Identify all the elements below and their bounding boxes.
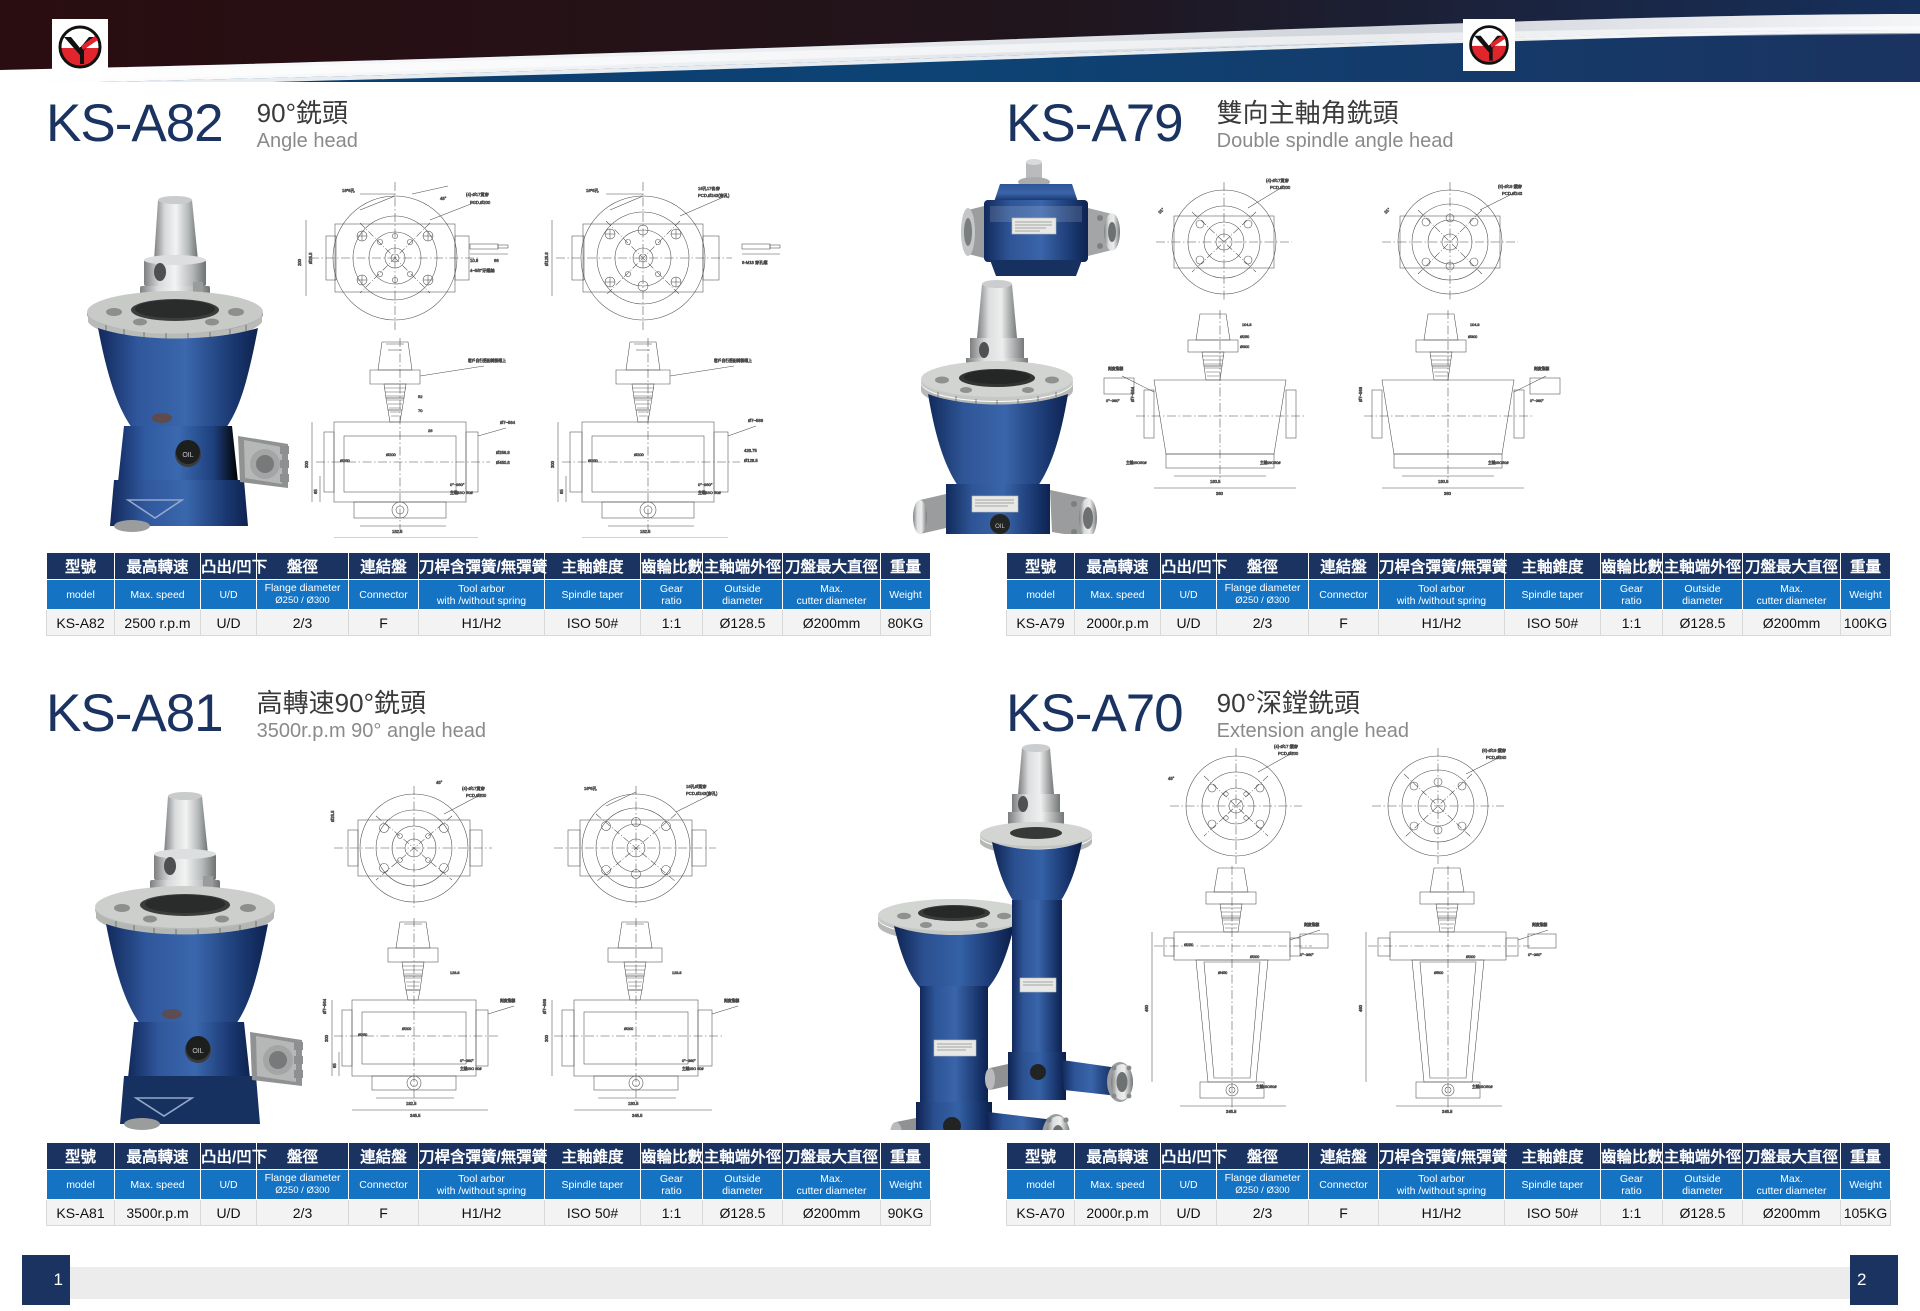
cell-cutter-dia: Ø200mm xyxy=(1743,1200,1841,1226)
svg-text:Ø250: Ø250 xyxy=(1240,335,1249,339)
svg-text:PCD.Ø240: PCD.Ø240 xyxy=(1486,755,1507,760)
svg-text:16孔Ø貫穿: 16孔Ø貫穿 xyxy=(686,783,706,790)
cad-drawing-art: (4)-Ø17貫穿 PCD.Ø200 31° xyxy=(1102,164,1902,544)
product-name-en: Double spindle angle head xyxy=(1217,129,1454,154)
svg-text:16*6孔: 16*6孔 xyxy=(584,785,598,792)
th-en-gear-ratio: Gearratio xyxy=(1601,580,1663,610)
table-row: KS-A81 3500r.p.m U/D 2/3 F H1/H2 ISO 50#… xyxy=(47,1200,931,1226)
header-banner-art xyxy=(0,0,1920,82)
svg-text:Ø200: Ø200 xyxy=(386,452,397,457)
svg-text:Ø7~564: Ø7~564 xyxy=(500,420,516,425)
svg-text:Ø250: Ø250 xyxy=(1184,943,1193,947)
th-en-connector: Connector xyxy=(349,580,419,610)
th-cn-model: 型號 xyxy=(47,1143,115,1170)
product-title-ks-a81: KS-A81 高轉速90°銑頭 3500r.p.m 90° angle head xyxy=(46,686,486,744)
svg-text:45°: 45° xyxy=(440,196,447,201)
th-cn-ud: 凸出/凹下 xyxy=(1161,553,1217,580)
svg-text:刻度指標: 刻度指標 xyxy=(1532,922,1547,927)
th-en-flange: Flange diameterØ250 / Ø300 xyxy=(257,1170,349,1200)
product-photo-ks-a81: OIL xyxy=(78,780,328,1130)
th-cn-tool-arbor: 刀桿含彈簧/無彈簧 xyxy=(1379,553,1505,580)
svg-text:345.5: 345.5 xyxy=(1442,1109,1453,1114)
table-row: KS-A70 2000r.p.m U/D 2/3 F H1/H2 ISO 50#… xyxy=(1007,1200,1891,1226)
cell-weight: 80KG xyxy=(881,610,931,636)
svg-text:刻度指標: 刻度指標 xyxy=(500,998,515,1003)
cell-weight: 90KG xyxy=(881,1200,931,1226)
th-en-model: model xyxy=(1007,1170,1075,1200)
th-cn-spindle-taper: 主軸錐度 xyxy=(545,1143,641,1170)
svg-text:客戶自行搭配轉接環上: 客戶自行搭配轉接環上 xyxy=(468,358,506,363)
spec-table-ks-a79: 型號 最高轉速 凸出/凹下 盤徑 連結盤 刀桿含彈簧/無彈簧 主軸錐度 齒輪比數… xyxy=(1006,552,1891,636)
th-en-outside-dia: Outsidediameter xyxy=(1663,1170,1743,1200)
svg-text:Ø450.8: Ø450.8 xyxy=(496,460,510,465)
table-row: KS-A79 2000r.p.m U/D 2/3 F H1/H2 ISO 50#… xyxy=(1007,610,1891,636)
th-en-max-speed: Max. speed xyxy=(115,580,201,610)
product-code: KS-A79 xyxy=(1006,96,1183,152)
cell-gear-ratio: 1:1 xyxy=(1601,610,1663,636)
th-cn-weight: 重量 xyxy=(1841,1143,1891,1170)
cell-weight: 105KG xyxy=(1841,1200,1891,1226)
cell-weight: 100KG xyxy=(1841,610,1891,636)
cell-flange: 2/3 xyxy=(257,1200,349,1226)
th-cn-connector: 連結盤 xyxy=(349,553,419,580)
company-logo-secondary xyxy=(1463,19,1515,71)
svg-text:主軸ISO50#: 主軸ISO50# xyxy=(1260,460,1281,465)
svg-text:PCD.Ø243(穿孔): PCD.Ø243(穿孔) xyxy=(686,790,718,797)
th-cn-cutter-dia: 刀盤最大直徑 xyxy=(1743,1143,1841,1170)
th-en-outside-dia: Outsidediameter xyxy=(1663,580,1743,610)
cell-connector: F xyxy=(1309,1200,1379,1226)
product-block-ks-a81: KS-A81 高轉速90°銑頭 3500r.p.m 90° angle head xyxy=(0,672,960,1255)
svg-text:(4)-Ø17 鑽穿: (4)-Ø17 鑽穿 xyxy=(1274,743,1298,750)
th-cn-tool-arbor: 刀桿含彈簧/無彈簧 xyxy=(1379,1143,1505,1170)
cell-outside-dia: Ø128.5 xyxy=(1663,610,1743,636)
cell-ud: U/D xyxy=(201,610,257,636)
cell-spindle-taper: ISO 50# xyxy=(1505,1200,1601,1226)
svg-text:OIL: OIL xyxy=(192,1048,203,1055)
th-cn-flange: 盤徑 xyxy=(257,553,349,580)
th-cn-outside-dia: 主軸端外徑 xyxy=(703,1143,783,1170)
svg-text:(6)-Ø19 鑽穿: (6)-Ø19 鑽穿 xyxy=(1498,183,1522,190)
cell-max-speed: 2000r.p.m xyxy=(1075,610,1161,636)
th-cn-flange: 盤徑 xyxy=(1217,1143,1309,1170)
page-number-right: 2 xyxy=(1850,1255,1898,1305)
th-en-max-speed: Max. speed xyxy=(1075,1170,1161,1200)
svg-text:PCD.Ø200: PCD.Ø200 xyxy=(470,200,491,205)
th-en-flange: Flange diameterØ250 / Ø300 xyxy=(1217,1170,1309,1200)
cell-ud: U/D xyxy=(1161,1200,1217,1226)
th-cn-gear-ratio: 齒輪比數 xyxy=(1601,553,1663,580)
svg-text:(6)-Ø19 鑽穿: (6)-Ø19 鑽穿 xyxy=(1482,747,1506,754)
th-en-gear-ratio: Gearratio xyxy=(641,580,703,610)
th-cn-connector: 連結盤 xyxy=(1309,1143,1379,1170)
th-cn-spindle-taper: 主軸錐度 xyxy=(545,553,641,580)
svg-text:345.5: 345.5 xyxy=(1226,1109,1237,1114)
th-cn-weight: 重量 xyxy=(1841,553,1891,580)
cell-cutter-dia: Ø200mm xyxy=(783,610,881,636)
th-cn-model: 型號 xyxy=(1007,1143,1075,1170)
cell-tool-arbor: H1/H2 xyxy=(1379,1200,1505,1226)
th-cn-connector: 連結盤 xyxy=(349,1143,419,1170)
page-header xyxy=(0,0,1920,82)
product-code: KS-A82 xyxy=(46,96,223,152)
svg-text:180.5: 180.5 xyxy=(1438,479,1449,484)
th-cn-cutter-dia: 刀盤最大直徑 xyxy=(1743,553,1841,580)
th-en-tool-arbor: Tool arborwith /without spring xyxy=(419,580,545,610)
th-en-connector: Connector xyxy=(1309,1170,1379,1200)
cell-ud: U/D xyxy=(1161,610,1217,636)
cell-tool-arbor: H1/H2 xyxy=(419,1200,545,1226)
svg-text:0°~360°: 0°~360° xyxy=(1106,399,1120,403)
th-cn-cutter-dia: 刀盤最大直徑 xyxy=(783,1143,881,1170)
th-cn-max-speed: 最高轉速 xyxy=(1075,553,1161,580)
th-en-cutter-dia: Max.cutter diameter xyxy=(783,1170,881,1200)
cell-flange: 2/3 xyxy=(1217,1200,1309,1226)
svg-text:主軸ISO 50#: 主軸ISO 50# xyxy=(460,1066,482,1071)
svg-text:主軸ISO50#: 主軸ISO50# xyxy=(1488,460,1509,465)
product-photo-ks-a82: OIL xyxy=(62,182,302,532)
th-en-flange: Flange diameterØ250 / Ø300 xyxy=(1217,580,1309,610)
svg-text:4~5/8"牙螺絲: 4~5/8"牙螺絲 xyxy=(470,267,495,274)
high-speed-angle-head-photo-art: OIL xyxy=(78,780,328,1130)
cell-max-speed: 2000r.p.m xyxy=(1075,1200,1161,1226)
product-name-cn: 雙向主軸角銑頭 xyxy=(1217,98,1454,129)
svg-text:Ø250: Ø250 xyxy=(588,458,599,463)
product-name-cn: 90°銑頭 xyxy=(257,98,358,129)
svg-text:460: 460 xyxy=(1358,1004,1363,1012)
product-code: KS-A81 xyxy=(46,686,223,742)
svg-text:OIL: OIL xyxy=(182,452,193,459)
th-en-model: model xyxy=(47,580,115,610)
svg-text:(4)-Ø17貫穿: (4)-Ø17貫穿 xyxy=(1266,177,1289,184)
svg-text:10.8: 10.8 xyxy=(470,258,479,263)
technical-drawing-ks-a79: (4)-Ø17貫穿 PCD.Ø200 31° xyxy=(1102,164,1902,544)
table-header-en-row: model Max. speed U/D Flange diameterØ250… xyxy=(1007,580,1891,610)
th-cn-spindle-taper: 主軸錐度 xyxy=(1505,553,1601,580)
svg-text:0°~360°: 0°~360° xyxy=(698,482,713,487)
th-cn-flange: 盤徑 xyxy=(1217,553,1309,580)
svg-text:300: 300 xyxy=(544,1034,549,1042)
product-block-ks-a70: KS-A70 90°深鏜銑頭 Extension angle head xyxy=(960,672,1920,1255)
svg-text:Ø300: Ø300 xyxy=(1468,335,1477,339)
th-en-gear-ratio: Gearratio xyxy=(1601,1170,1663,1200)
catalog-page: KS-A82 90°銑頭 Angle head xyxy=(0,82,1920,1255)
company-logo xyxy=(52,19,108,75)
cell-tool-arbor: H1/H2 xyxy=(419,610,545,636)
svg-text:180.5: 180.5 xyxy=(628,1101,639,1106)
svg-text:主軸ISO50#: 主軸ISO50# xyxy=(1126,460,1147,465)
table-header-en-row: model Max. speed U/D Flange diameterØ250… xyxy=(47,580,931,610)
cell-spindle-taper: ISO 50# xyxy=(545,1200,641,1226)
th-cn-connector: 連結盤 xyxy=(1309,553,1379,580)
svg-text:Ø25.5: Ø25.5 xyxy=(330,810,335,822)
svg-text:45°: 45° xyxy=(436,780,443,785)
svg-text:300: 300 xyxy=(550,460,555,468)
th-en-cutter-dia: Max.cutter diameter xyxy=(1743,1170,1841,1200)
svg-text:OIL: OIL xyxy=(995,524,1005,530)
svg-text:Ø200: Ø200 xyxy=(1250,955,1259,959)
th-cn-tool-arbor: 刀桿含彈簧/無彈簧 xyxy=(419,1143,545,1170)
company-logo-icon xyxy=(55,22,105,72)
table-header-cn-row: 型號 最高轉速 凸出/凹下 盤徑 連結盤 刀桿含彈簧/無彈簧 主軸錐度 齒輪比數… xyxy=(1007,553,1891,580)
svg-text:主軸ISO 50#: 主軸ISO 50# xyxy=(682,1066,704,1071)
svg-text:主軸ISO50#: 主軸ISO50# xyxy=(1256,1084,1277,1089)
cell-model: KS-A81 xyxy=(47,1200,115,1226)
product-title-ks-a79: KS-A79 雙向主軸角銑頭 Double spindle angle head xyxy=(1006,96,1454,154)
svg-text:刻度指標: 刻度指標 xyxy=(1108,366,1123,371)
svg-text:200: 200 xyxy=(297,258,302,266)
svg-text:Ø250: Ø250 xyxy=(358,1033,367,1037)
table-header-cn-row: 型號 最高轉速 凸出/凹下 盤徑 連結盤 刀桿含彈簧/無彈簧 主軸錐度 齒輪比數… xyxy=(1007,1143,1891,1170)
th-cn-ud: 凸出/凹下 xyxy=(201,1143,257,1170)
svg-text:182.5: 182.5 xyxy=(640,529,651,534)
cell-model: KS-A70 xyxy=(1007,1200,1075,1226)
th-cn-outside-dia: 主軸端外徑 xyxy=(703,553,783,580)
table-header-cn-row: 型號 最高轉速 凸出/凹下 盤徑 連結盤 刀桿含彈簧/無彈簧 主軸錐度 齒輪比數… xyxy=(47,1143,931,1170)
svg-text:6-M18 穿孔螺: 6-M18 穿孔螺 xyxy=(742,259,768,266)
th-en-connector: Connector xyxy=(349,1170,419,1200)
th-en-model: model xyxy=(47,1170,115,1200)
table-header-en-row: model Max. speed U/D Flange diameterØ250… xyxy=(1007,1170,1891,1200)
spec-table-ks-a70: 型號 最高轉速 凸出/凹下 盤徑 連結盤 刀桿含彈簧/無彈簧 主軸錐度 齒輪比數… xyxy=(1006,1142,1891,1226)
svg-text:Ø125.8: Ø125.8 xyxy=(544,252,549,266)
cell-cutter-dia: Ø200mm xyxy=(783,1200,881,1226)
svg-text:128.8: 128.8 xyxy=(672,971,682,975)
product-name-cn: 高轉速90°銑頭 xyxy=(257,688,486,719)
th-en-cutter-dia: Max.cutter diameter xyxy=(1743,580,1841,610)
svg-text:0°~360°: 0°~360° xyxy=(460,1059,474,1063)
svg-text:52: 52 xyxy=(418,394,423,399)
product-block-ks-a82: KS-A82 90°銑頭 Angle head xyxy=(0,82,960,672)
cell-connector: F xyxy=(349,1200,419,1226)
table-header-en-row: model Max. speed U/D Flange diameterØ250… xyxy=(47,1170,931,1200)
th-en-spindle-taper: Spindle taper xyxy=(545,580,641,610)
th-cn-ud: 凸出/凹下 xyxy=(1161,1143,1217,1170)
cell-flange: 2/3 xyxy=(1217,610,1309,636)
svg-text:Ø300: Ø300 xyxy=(1240,345,1249,349)
svg-text:345.5: 345.5 xyxy=(410,1113,421,1118)
svg-text:Ø200: Ø200 xyxy=(634,452,645,457)
th-en-tool-arbor: Tool arborwith /without spring xyxy=(1379,580,1505,610)
th-cn-tool-arbor: 刀桿含彈簧/無彈簧 xyxy=(419,553,545,580)
angle-head-photo-art: OIL xyxy=(62,182,302,532)
svg-text:345.5: 345.5 xyxy=(632,1113,643,1118)
th-cn-weight: 重量 xyxy=(881,553,931,580)
svg-text:0°~360°: 0°~360° xyxy=(1528,953,1542,957)
svg-text:104.8: 104.8 xyxy=(1470,323,1480,327)
th-en-weight: Weight xyxy=(881,580,931,610)
cell-model: KS-A82 xyxy=(47,610,115,636)
cell-connector: F xyxy=(349,610,419,636)
th-en-ud: U/D xyxy=(1161,1170,1217,1200)
svg-text:Ø25.5: Ø25.5 xyxy=(308,252,313,264)
svg-text:PCD.Ø243(穿孔): PCD.Ø243(穿孔) xyxy=(698,192,730,199)
th-cn-model: 型號 xyxy=(1007,553,1075,580)
th-en-ud: U/D xyxy=(201,1170,257,1200)
svg-text:Ø200: Ø200 xyxy=(402,1027,411,1031)
th-en-tool-arbor: Tool arborwith /without spring xyxy=(1379,1170,1505,1200)
svg-text:(4)-Ø17貫穿: (4)-Ø17貫穿 xyxy=(462,785,485,792)
svg-text:180.5: 180.5 xyxy=(1210,479,1221,484)
th-en-weight: Weight xyxy=(881,1170,931,1200)
svg-text:Ø450: Ø450 xyxy=(1218,971,1227,975)
svg-text:刻度指標: 刻度指標 xyxy=(1304,922,1319,927)
svg-text:客戶自行搭配轉接環上: 客戶自行搭配轉接環上 xyxy=(714,358,752,363)
th-en-ud: U/D xyxy=(1161,580,1217,610)
spec-table-ks-a82: 型號 最高轉速 凸出/凹下 盤徑 連結盤 刀桿含彈簧/無彈簧 主軸錐度 齒輪比數… xyxy=(46,552,931,636)
svg-text:0°~360°: 0°~360° xyxy=(682,1059,696,1063)
company-logo-icon xyxy=(1466,22,1512,68)
svg-text:(4)-Ø17貫穿: (4)-Ø17貫穿 xyxy=(466,191,489,198)
svg-text:0°~360°: 0°~360° xyxy=(1300,953,1314,957)
svg-text:31°: 31° xyxy=(1383,206,1391,214)
svg-text:26: 26 xyxy=(428,428,433,433)
cell-gear-ratio: 1:1 xyxy=(641,610,703,636)
svg-text:主軸ISO 50#: 主軸ISO 50# xyxy=(698,489,721,495)
th-en-ud: U/D xyxy=(201,580,257,610)
th-cn-gear-ratio: 齒輪比數 xyxy=(1601,1143,1663,1170)
svg-text:Ø128.5: Ø128.5 xyxy=(744,458,758,463)
svg-text:Ø7~569: Ø7~569 xyxy=(1358,386,1363,402)
svg-text:460: 460 xyxy=(1144,1004,1149,1012)
svg-text:16*6孔: 16*6孔 xyxy=(586,187,600,194)
svg-text:65: 65 xyxy=(559,489,564,494)
cell-gear-ratio: 1:1 xyxy=(641,1200,703,1226)
cell-ud: U/D xyxy=(201,1200,257,1226)
th-cn-weight: 重量 xyxy=(881,1143,931,1170)
cell-spindle-taper: ISO 50# xyxy=(545,610,641,636)
cell-max-speed: 3500r.p.m xyxy=(115,1200,201,1226)
cell-gear-ratio: 1:1 xyxy=(1601,1200,1663,1226)
th-en-weight: Weight xyxy=(1841,1170,1891,1200)
svg-text:16孔17各穿: 16孔17各穿 xyxy=(698,185,720,192)
th-en-outside-dia: Outsidediameter xyxy=(703,1170,783,1200)
th-en-spindle-taper: Spindle taper xyxy=(1505,580,1601,610)
cell-connector: F xyxy=(1309,610,1379,636)
svg-text:Ø200: Ø200 xyxy=(1466,955,1475,959)
product-title-ks-a82: KS-A82 90°銑頭 Angle head xyxy=(46,96,358,154)
svg-text:PCD.Ø200: PCD.Ø200 xyxy=(466,793,487,798)
th-en-max-speed: Max. speed xyxy=(115,1170,201,1200)
page-footer: 1 2 xyxy=(0,1255,1920,1311)
svg-text:182.5: 182.5 xyxy=(392,529,403,534)
svg-text:300: 300 xyxy=(304,460,309,468)
cell-model: KS-A79 xyxy=(1007,610,1075,636)
cell-outside-dia: Ø128.5 xyxy=(703,610,783,636)
th-cn-gear-ratio: 齒輪比數 xyxy=(641,1143,703,1170)
svg-text:Ø7~569: Ø7~569 xyxy=(748,418,764,423)
th-en-spindle-taper: Spindle taper xyxy=(545,1170,641,1200)
svg-text:0°~360°: 0°~360° xyxy=(450,482,465,487)
th-cn-outside-dia: 主軸端外徑 xyxy=(1663,553,1743,580)
svg-text:66: 66 xyxy=(494,258,499,263)
cell-outside-dia: Ø128.5 xyxy=(1663,1200,1743,1226)
spec-table-ks-a81: 型號 最高轉速 凸出/凹下 盤徑 連結盤 刀桿含彈簧/無彈簧 主軸錐度 齒輪比數… xyxy=(46,1142,931,1226)
th-cn-spindle-taper: 主軸錐度 xyxy=(1505,1143,1601,1170)
svg-text:182.5: 182.5 xyxy=(406,1101,417,1106)
svg-text:0°~360°: 0°~360° xyxy=(1530,399,1544,403)
technical-drawing-ks-a70: (4)-Ø17 鑽穿 PCD.Ø200 45° xyxy=(1110,730,1900,1130)
th-cn-cutter-dia: 刀盤最大直徑 xyxy=(783,553,881,580)
svg-text:300: 300 xyxy=(324,1034,329,1042)
svg-text:Ø7~569: Ø7~569 xyxy=(542,998,547,1014)
product-name-en: Angle head xyxy=(257,129,358,154)
table-header-cn-row: 型號 最高轉速 凸出/凹下 盤徑 連結盤 刀桿含彈簧/無彈簧 主軸錐度 齒輪比數… xyxy=(47,553,931,580)
cell-cutter-dia: Ø200mm xyxy=(1743,610,1841,636)
svg-text:主軸ISO 50#: 主軸ISO 50# xyxy=(450,489,473,495)
svg-text:Ø256.8: Ø256.8 xyxy=(496,450,510,455)
th-cn-flange: 盤徑 xyxy=(257,1143,349,1170)
th-en-flange: Flange diameterØ250 / Ø300 xyxy=(257,580,349,610)
page-number-left: 1 xyxy=(22,1255,70,1305)
cell-max-speed: 2500 r.p.m xyxy=(115,610,201,636)
svg-text:70: 70 xyxy=(418,408,423,413)
svg-text:360: 360 xyxy=(1444,491,1452,496)
svg-text:65: 65 xyxy=(313,489,318,494)
svg-text:360: 360 xyxy=(1216,491,1224,496)
th-cn-max-speed: 最高轉速 xyxy=(1075,1143,1161,1170)
th-cn-model: 型號 xyxy=(47,553,115,580)
th-en-weight: Weight xyxy=(1841,580,1891,610)
footer-divider xyxy=(36,1267,1884,1299)
svg-text:PCD.Ø243: PCD.Ø243 xyxy=(1502,191,1523,196)
svg-text:65: 65 xyxy=(332,1063,337,1068)
svg-text:31°: 31° xyxy=(1157,206,1165,214)
svg-text:Ø200: Ø200 xyxy=(624,1027,633,1031)
product-name-cn: 90°深鏜銑頭 xyxy=(1217,688,1409,719)
svg-text:428.75: 428.75 xyxy=(744,448,757,453)
th-en-outside-dia: Outsidediameter xyxy=(703,580,783,610)
th-cn-ud: 凸出/凹下 xyxy=(201,553,257,580)
th-en-connector: Connector xyxy=(1309,580,1379,610)
th-en-tool-arbor: Tool arborwith /without spring xyxy=(419,1170,545,1200)
cell-flange: 2/3 xyxy=(257,610,349,636)
svg-text:PCD.Ø200: PCD.Ø200 xyxy=(1270,185,1291,190)
table-row: KS-A82 2500 r.p.m U/D 2/3 F H1/H2 ISO 50… xyxy=(47,610,931,636)
th-en-spindle-taper: Spindle taper xyxy=(1505,1170,1601,1200)
th-en-cutter-dia: Max.cutter diameter xyxy=(783,580,881,610)
cell-outside-dia: Ø128.5 xyxy=(703,1200,783,1226)
svg-text:104.8: 104.8 xyxy=(1242,323,1252,327)
svg-text:Ø250: Ø250 xyxy=(340,458,351,463)
cad-drawing-art: (4)-Ø17 鑽穿 PCD.Ø200 45° xyxy=(1110,730,1900,1130)
svg-text:Ø500: Ø500 xyxy=(1434,971,1443,975)
th-cn-outside-dia: 主軸端外徑 xyxy=(1663,1143,1743,1170)
svg-text:PCD.Ø200: PCD.Ø200 xyxy=(1278,751,1299,756)
svg-text:Ø7~564: Ø7~564 xyxy=(322,998,327,1014)
product-name-en: 3500r.p.m 90° angle head xyxy=(257,719,486,744)
cell-spindle-taper: ISO 50# xyxy=(1505,610,1601,636)
th-en-model: model xyxy=(1007,580,1075,610)
cell-tool-arbor: H1/H2 xyxy=(1379,610,1505,636)
th-cn-max-speed: 最高轉速 xyxy=(115,1143,201,1170)
svg-text:16*6孔: 16*6孔 xyxy=(342,187,356,194)
svg-text:刻度指標: 刻度指標 xyxy=(1534,366,1549,371)
svg-text:刻度指標: 刻度指標 xyxy=(724,998,739,1003)
svg-text:128.8: 128.8 xyxy=(450,971,460,975)
th-en-max-speed: Max. speed xyxy=(1075,580,1161,610)
th-cn-gear-ratio: 齒輪比數 xyxy=(641,553,703,580)
th-cn-max-speed: 最高轉速 xyxy=(115,553,201,580)
svg-text:45°: 45° xyxy=(1168,776,1175,781)
product-block-ks-a79: KS-A79 雙向主軸角銑頭 Double spindle angle head xyxy=(960,82,1920,672)
th-en-gear-ratio: Gearratio xyxy=(641,1170,703,1200)
svg-text:主軸ISO50#: 主軸ISO50# xyxy=(1472,1084,1493,1089)
